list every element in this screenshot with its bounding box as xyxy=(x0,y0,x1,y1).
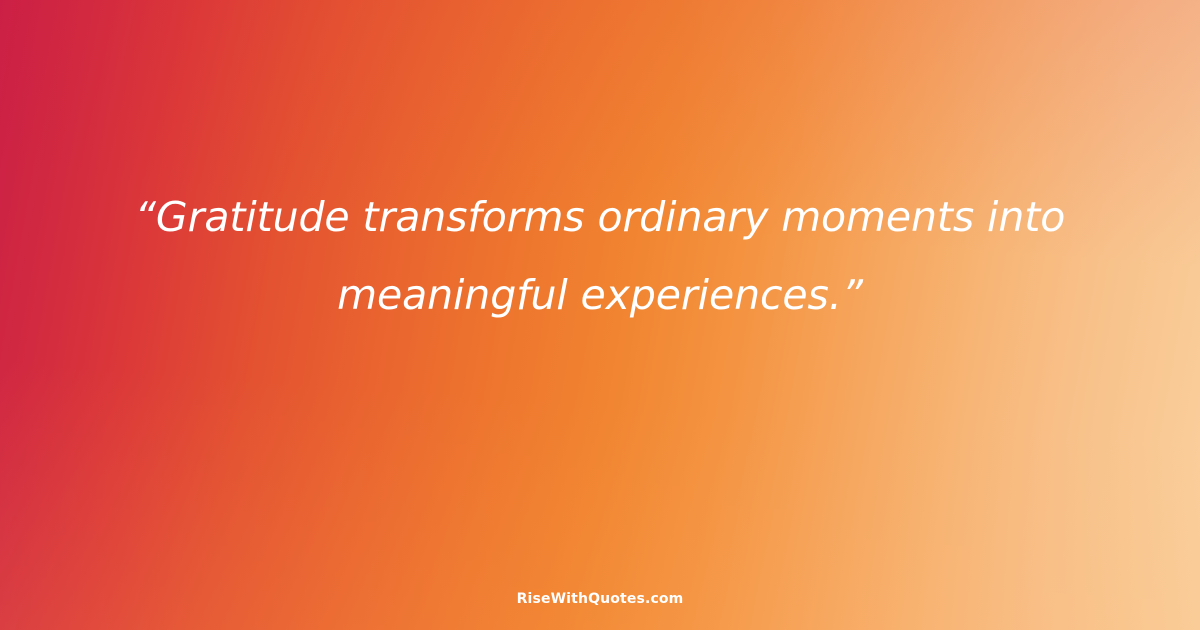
quote-card: “Gratitude transforms ordinary moments i… xyxy=(0,0,1200,630)
site-name-label: RiseWithQuotes.com xyxy=(517,591,684,607)
quote-block: “Gratitude transforms ordinary moments i… xyxy=(0,178,1200,334)
quote-text: “Gratitude transforms ordinary moments i… xyxy=(62,178,1138,334)
footer: RiseWithQuotes.com xyxy=(0,588,1200,607)
